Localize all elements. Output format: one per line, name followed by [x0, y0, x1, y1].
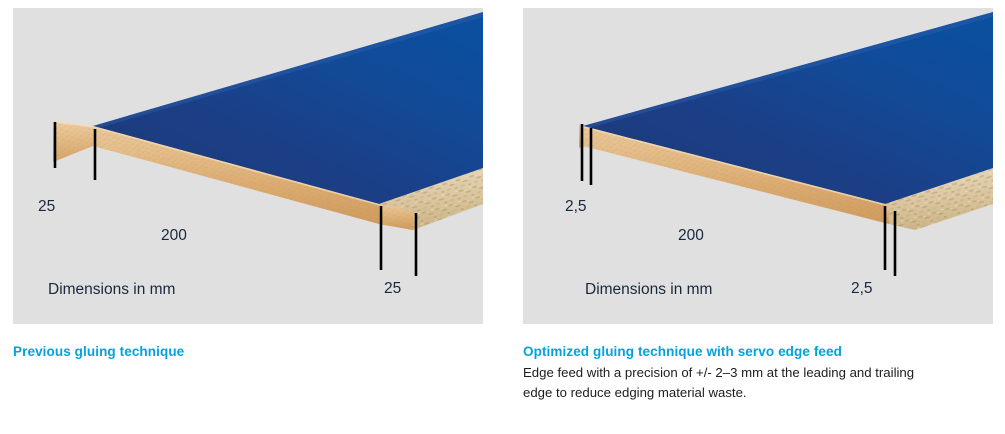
previous-gluing-technique-figure: 25 200 25 Dimensions in mm — [13, 8, 483, 324]
previous-technique-caption-title: Previous gluing technique — [13, 342, 491, 361]
optimized-technique-caption: Optimized gluing technique with servo ed… — [523, 342, 1001, 402]
caption-body-line-1: Edge feed with a precision of +/- 2–3 mm… — [523, 363, 975, 383]
caption-body-line-2: edge to reduce edging material waste. — [523, 383, 975, 403]
previous-technique-caption: Previous gluing technique — [13, 342, 491, 361]
length-label: 200 — [678, 227, 704, 244]
units-label: Dimensions in mm — [48, 281, 175, 298]
overhang-label-left: 2,5 — [565, 198, 587, 215]
length-label: 200 — [161, 227, 187, 244]
previous-technique-illustration: 25 200 25 Dimensions in mm — [13, 8, 483, 324]
overhang-label-right: 25 — [384, 280, 401, 297]
optimized-technique-illustration: 2,5 200 2,5 Dimensions in mm — [523, 8, 993, 324]
optimized-gluing-technique-figure: 2,5 200 2,5 Dimensions in mm — [523, 8, 993, 324]
overhang-label-right: 2,5 — [851, 280, 873, 297]
optimized-technique-caption-body: Edge feed with a precision of +/- 2–3 mm… — [523, 363, 975, 402]
overhang-label-left: 25 — [38, 198, 55, 215]
units-label: Dimensions in mm — [585, 281, 712, 298]
comparison-board: 25 200 25 Dimensions in mm — [0, 0, 1005, 434]
optimized-technique-caption-title: Optimized gluing technique with servo ed… — [523, 342, 1001, 361]
